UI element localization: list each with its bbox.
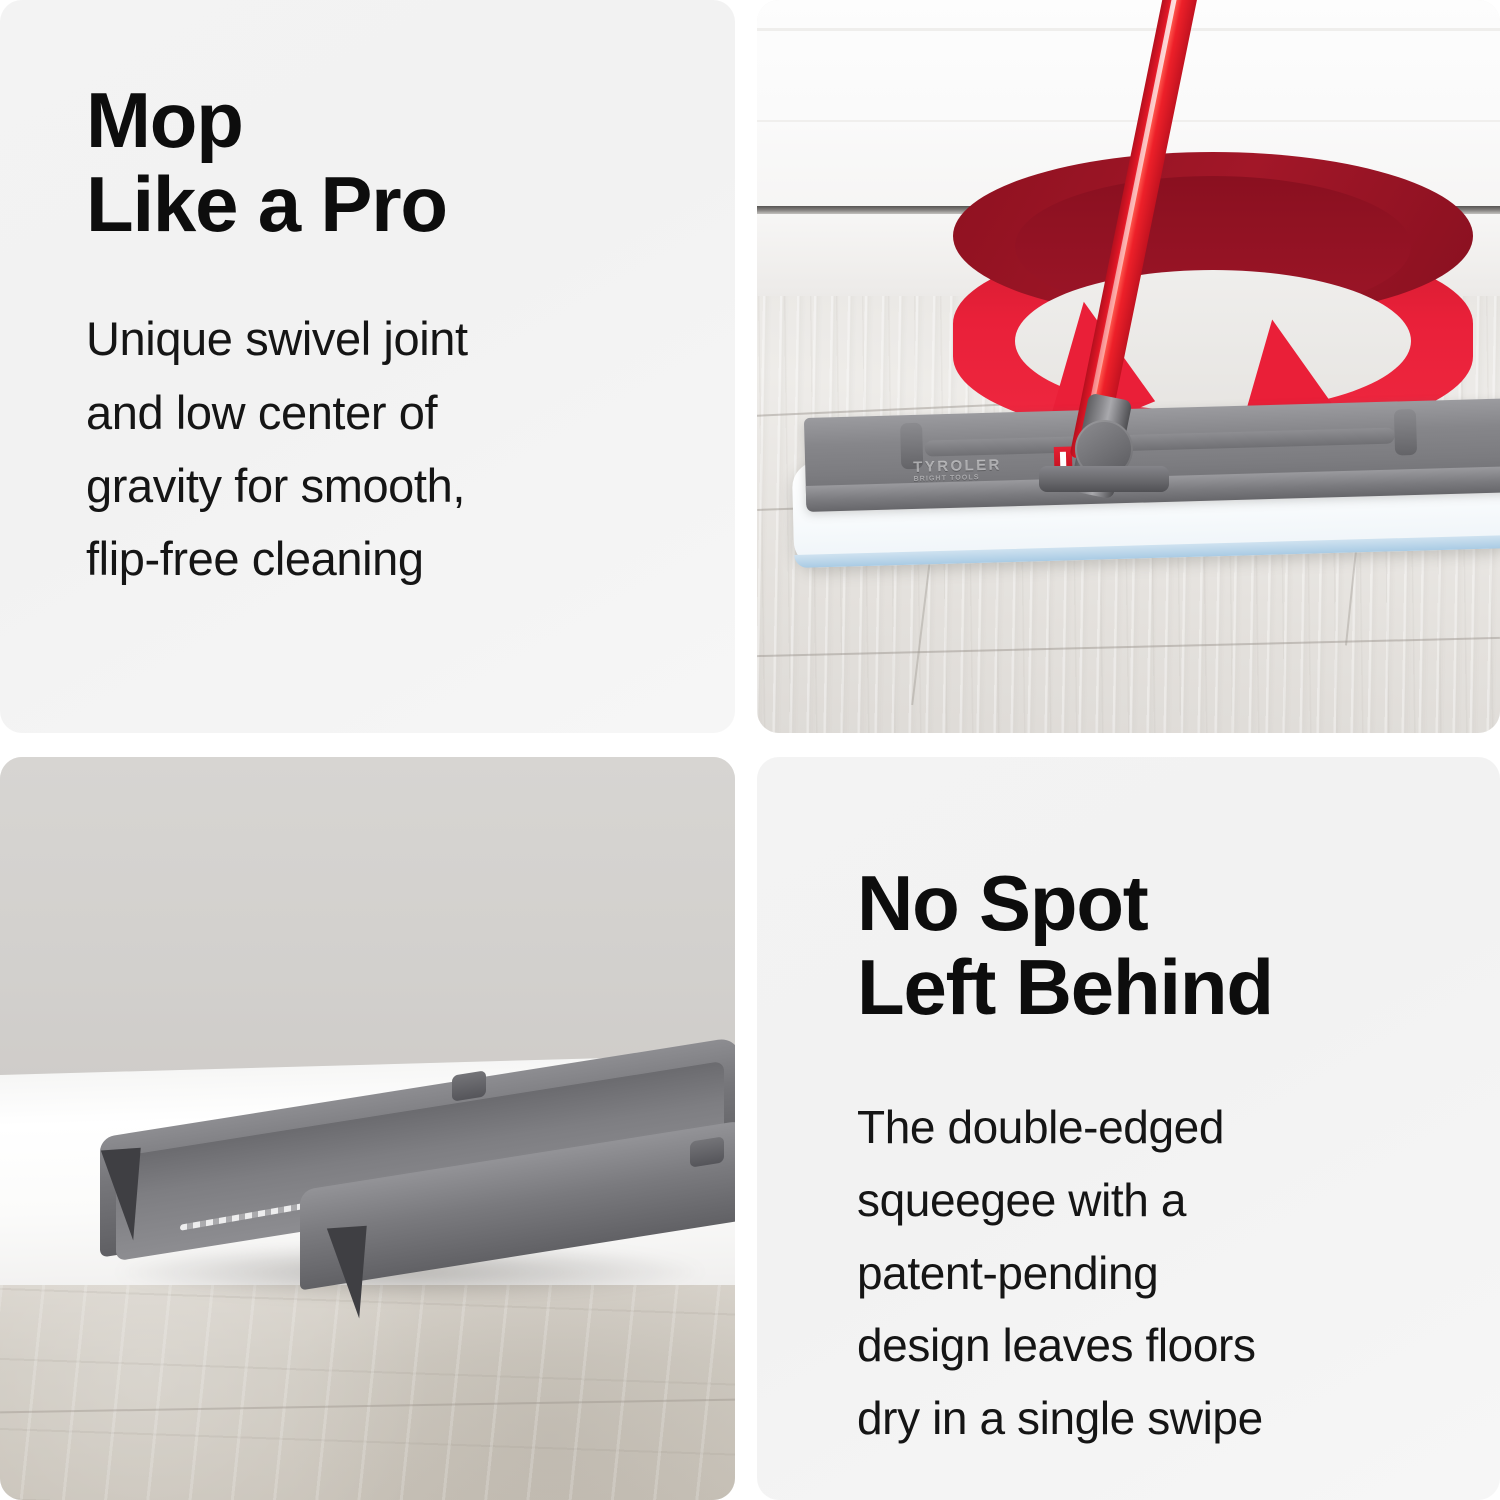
cabinet-line xyxy=(757,120,1500,122)
brand-logo-tyroler: TYROLER BRIGHT TOOLS xyxy=(913,457,1002,483)
squeegee-tab xyxy=(690,1136,724,1167)
squeegee-end-cap xyxy=(101,1148,147,1243)
panel-mop-like-a-pro: Mop Like a Pro Unique swivel joint and l… xyxy=(0,0,735,733)
panel-mop-photo: TYROLER BRIGHT TOOLS xyxy=(757,0,1500,733)
cabinet-line xyxy=(757,28,1500,31)
swivel-yoke xyxy=(1039,466,1169,492)
mop-head-frame: TYROLER BRIGHT TOOLS xyxy=(804,398,1500,510)
panel-no-spot-left-behind: No Spot Left Behind The double-edged squ… xyxy=(757,757,1500,1500)
panel-squeegee-photo: PATENT PENDING xyxy=(0,757,735,1500)
squeegee-tab xyxy=(452,1070,486,1101)
headline-no-spot-left-behind: No Spot Left Behind xyxy=(857,861,1444,1029)
rotation-arrow-ring-icon xyxy=(953,152,1473,442)
squeegee-end-cap xyxy=(327,1226,373,1321)
frame-rail xyxy=(925,428,1395,457)
body-copy-double-edged-squeegee: The double-edged squeegee with a patent-… xyxy=(857,1091,1444,1454)
pad-clip xyxy=(1394,409,1417,456)
headline-mop-like-a-pro: Mop Like a Pro xyxy=(86,78,679,246)
body-copy-swivel-joint: Unique swivel joint and low center of gr… xyxy=(86,302,679,595)
feature-grid: Mop Like a Pro Unique swivel joint and l… xyxy=(0,0,1500,1500)
